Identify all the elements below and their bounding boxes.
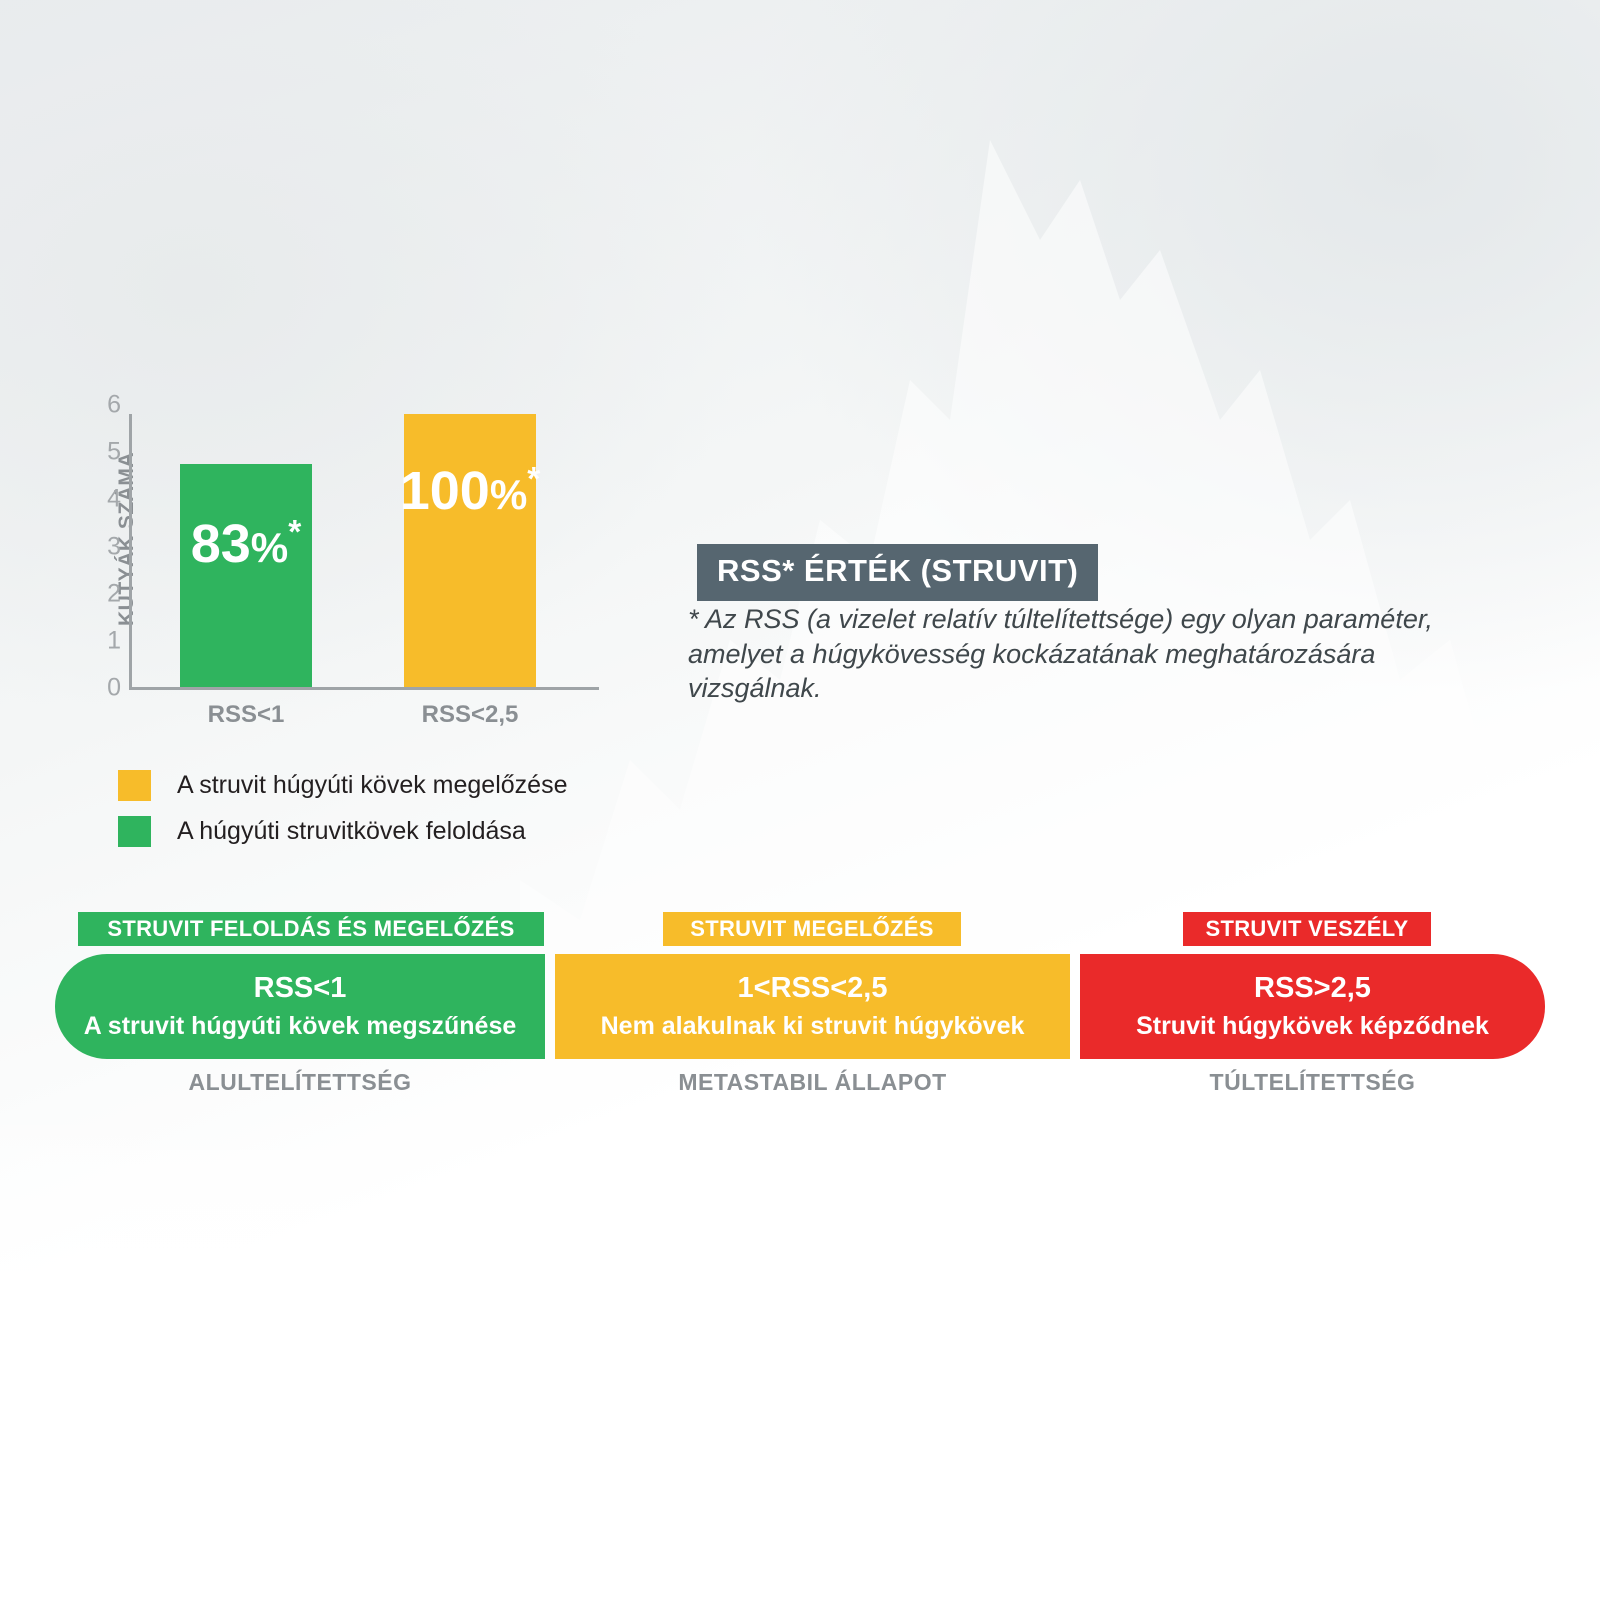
bar-value-label-100: 100%*	[400, 464, 541, 518]
rss-footnote-line-3: vizsgálnak.	[688, 671, 1478, 706]
bar-value-asterisk: *	[527, 461, 540, 498]
legend-swatch-yellow	[118, 770, 151, 801]
bar-value-label-83: 83%*	[191, 517, 302, 571]
y-tick-6: 6	[85, 393, 121, 418]
rss-footnote: * Az RSS (a vizelet relatív túltelítetts…	[688, 602, 1478, 706]
bar-value-number: 83	[191, 514, 251, 574]
bar-rss-lt-2-5: 100%*	[404, 414, 536, 687]
plot-area: 83%* 100%*	[132, 414, 602, 687]
y-tick-1: 1	[85, 628, 121, 653]
bar-value-number: 100	[400, 461, 490, 521]
x-axis-line	[129, 687, 599, 690]
x-label-rss-lt-1: RSS<1	[146, 701, 346, 729]
band-caption-over-saturation: TÚLTELÍTETTSÉG	[1080, 1069, 1545, 1096]
legend-item-dissolution: A húgyúti struvitkövek feloldása	[118, 808, 567, 854]
band-body-metastable: 1<RSS<2,5 Nem alakulnak ki struvit húgyk…	[555, 954, 1070, 1059]
rss-footnote-line-2: amelyet a húgykövesség kockázatának megh…	[688, 637, 1478, 672]
x-label-rss-lt-2-5: RSS<2,5	[370, 701, 570, 729]
band-caption-under-saturation: ALULTELÍTETTSÉG	[55, 1069, 545, 1096]
band-desc-danger: Struvit húgykövek képződnek	[1136, 1011, 1489, 1041]
bottom-fade	[0, 1100, 1600, 1600]
y-axis-ticks: 6 5 4 3 2 1 0	[85, 405, 121, 688]
rss-footnote-line-1: * Az RSS (a vizelet relatív túltelítetts…	[688, 602, 1478, 637]
bar-value-asterisk: *	[288, 514, 301, 551]
band-header-danger: STRUVIT VESZÉLY	[1183, 912, 1431, 946]
band-range-rss-lt-1: RSS<1	[254, 972, 347, 1005]
band-body-over-saturation: RSS>2,5 Struvit húgykövek képződnek	[1080, 954, 1545, 1059]
y-tick-2: 2	[85, 581, 121, 606]
x-axis-labels: RSS<1 RSS<2,5	[132, 701, 602, 737]
bar-rss-lt-1: 83%*	[180, 464, 312, 687]
band-desc-dissolution: A struvit húgyúti kövek megszűnése	[84, 1011, 517, 1041]
y-tick-5: 5	[85, 440, 121, 465]
band-desc-prevention: Nem alakulnak ki struvit húgykövek	[601, 1011, 1025, 1041]
band-header-prevention: STRUVIT MEGELŐZÉS	[663, 912, 961, 946]
band-range-rss-gt-2-5: RSS>2,5	[1254, 972, 1371, 1005]
rss-scale-bands: STRUVIT FELOLDÁS ÉS MEGELŐZÉS RSS<1 A st…	[0, 912, 1600, 1122]
legend-item-prevention: A struvit húgyúti kövek megelőzése	[118, 762, 567, 808]
band-caption-metastable: METASTABIL ÁLLAPOT	[555, 1069, 1070, 1096]
bar-value-percent: %	[251, 524, 288, 571]
band-body-under-saturation: RSS<1 A struvit húgyúti kövek megszűnése	[55, 954, 545, 1059]
y-tick-0: 0	[85, 676, 121, 701]
rss-value-badge: RSS* ÉRTÉK (STRUVIT)	[697, 544, 1098, 601]
bar-value-percent: %	[490, 471, 527, 518]
band-range-rss-1-to-2-5: 1<RSS<2,5	[738, 972, 888, 1005]
chart-legend: A struvit húgyúti kövek megelőzése A húg…	[118, 762, 567, 854]
y-tick-3: 3	[85, 534, 121, 559]
band-header-dissolution-prevention: STRUVIT FELOLDÁS ÉS MEGELŐZÉS	[78, 912, 544, 946]
y-tick-4: 4	[85, 487, 121, 512]
legend-label-dissolution: A húgyúti struvitkövek feloldása	[177, 817, 526, 846]
bar-chart: KUTYÁK SZÁMA 6 5 4 3 2 1 0 83%* 100%* RS…	[55, 405, 665, 735]
legend-label-prevention: A struvit húgyúti kövek megelőzése	[177, 771, 567, 800]
legend-swatch-green	[118, 816, 151, 847]
